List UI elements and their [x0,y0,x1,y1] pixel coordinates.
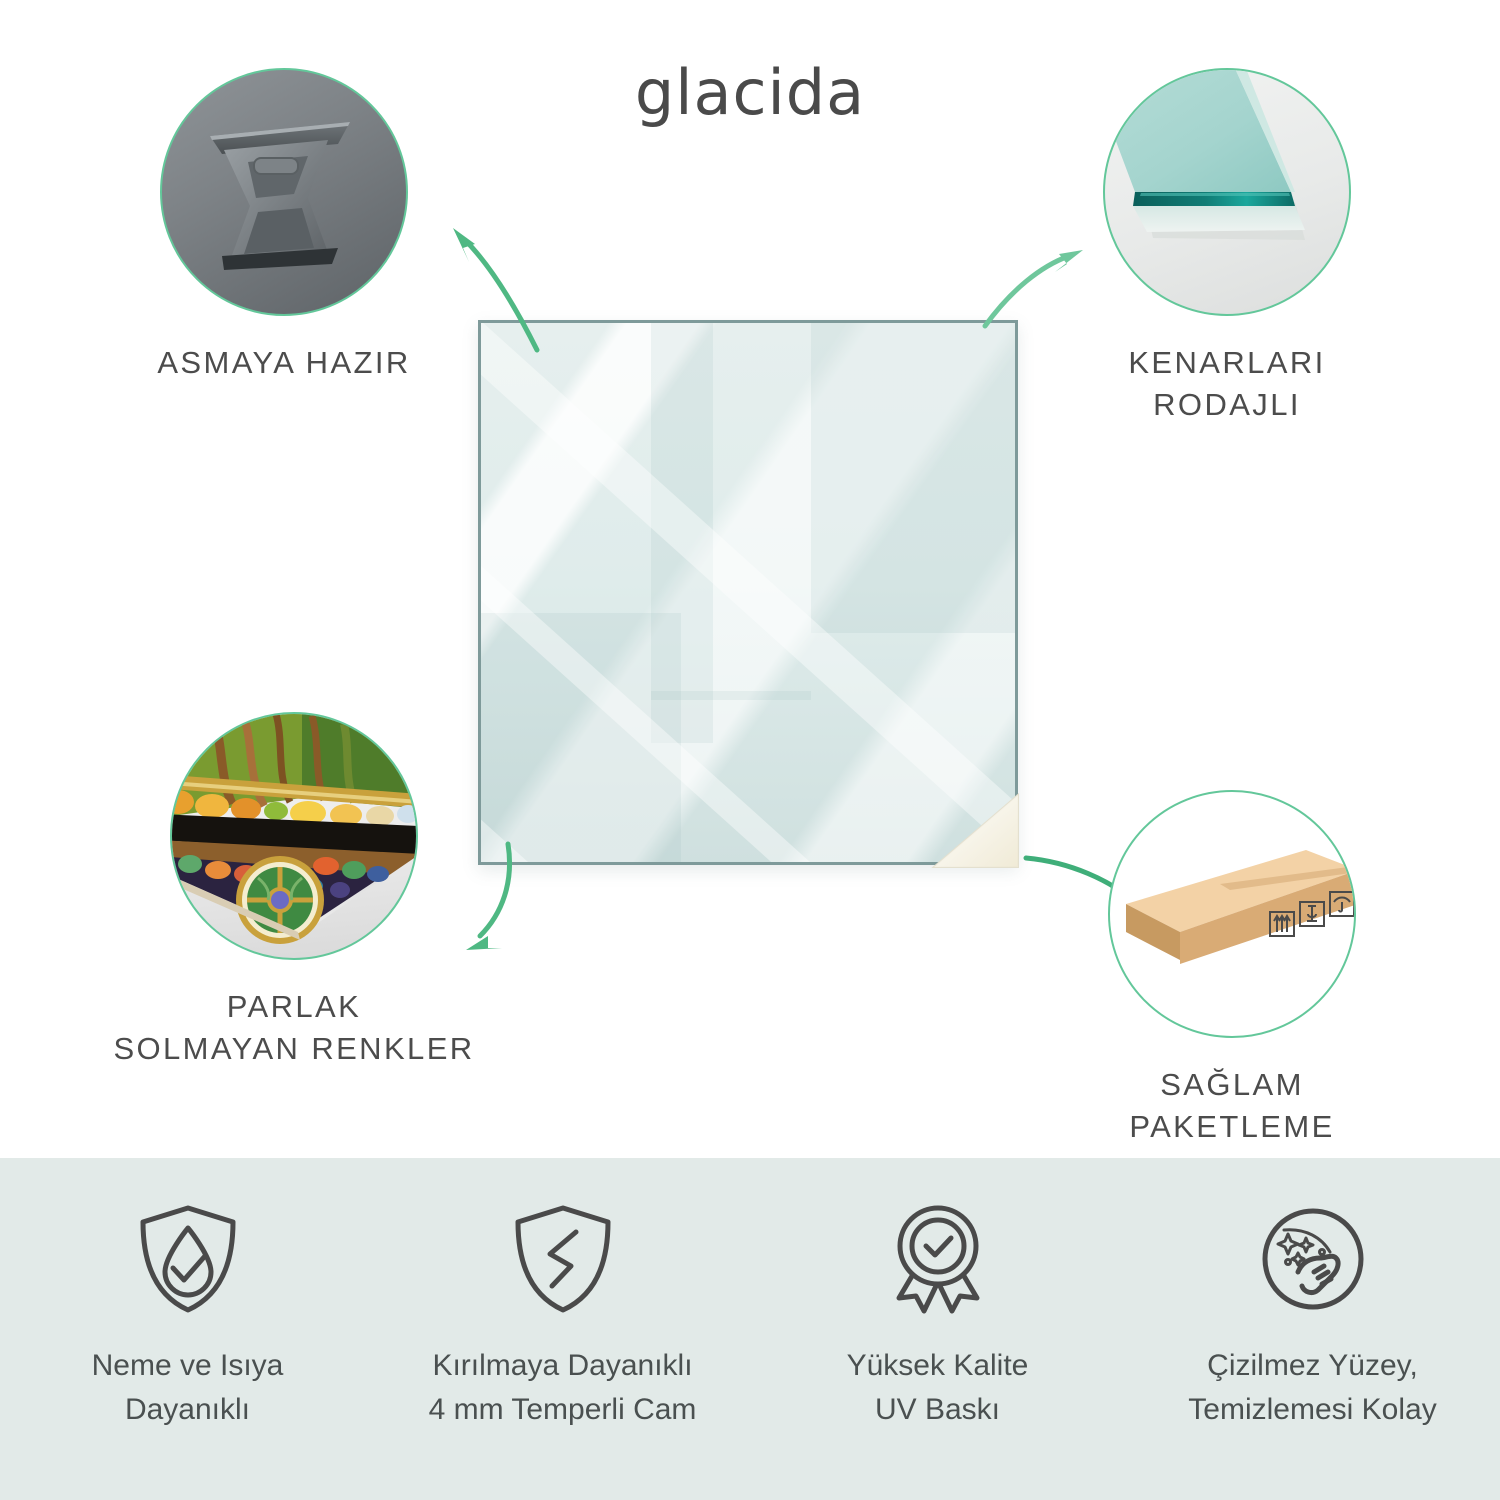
feature-label-kenarlari-rodajli: KENARLARI RODAJLI [1037,342,1417,426]
glass-reflection-block-left [478,613,681,865]
strip-text-kalite: Yüksek Kalite UV Baskı [847,1344,1029,1431]
feature-asmaya-hazir[interactable]: ASMAYA HAZIR [160,68,474,384]
feature-image-stained-glass-mosaic [170,712,418,960]
sparkle-wiping-hand-circle-icon [1254,1200,1372,1318]
wall-mount-bracket-icon [162,70,408,316]
glass-streak-1 [478,389,746,865]
strip-text-kirilma: Kırılmaya Dayanıklı 4 mm Temperli Cam [429,1344,697,1431]
bottom-feature-strip: Neme ve Isıya Dayanıklı Kırılmaya Dayanı… [0,1158,1500,1500]
stained-glass-mosaic-print-icon [172,714,418,960]
strip-text-cizilmez: Çizilmez Yüzey, Temizlemesi Kolay [1188,1344,1436,1431]
glass-reflection-mullion [651,323,713,743]
award-medal-check-icon [879,1200,997,1318]
feature-saglam-paketleme[interactable]: SAĞLAM PAKETLEME [1108,790,1422,1148]
strip-item-cizilmez[interactable]: Çizilmez Yüzey, Temizlemesi Kolay [1143,1200,1483,1431]
strip-item-nem-isi[interactable]: Neme ve Isıya Dayanıklı [18,1200,358,1431]
shield-water-drop-check-icon [129,1200,247,1318]
feature-kenarlari-rodajli[interactable]: KENARLARI RODAJLI [1103,68,1417,426]
glass-reflection-transom [651,691,811,700]
strip-item-kirilma[interactable]: Kırılmaya Dayanıklı 4 mm Temperli Cam [393,1200,733,1431]
cardboard-shipping-box-icon [1110,792,1356,1038]
glass-reflection-block-right [811,320,1018,633]
feature-label-asmaya-hazir: ASMAYA HAZIR [94,342,474,384]
feature-image-wall-mount-bracket [160,68,408,316]
product-glass-panel [478,320,1018,865]
strip-item-kalite[interactable]: Yüksek Kalite UV Baskı [768,1200,1108,1431]
strip-text-nem-isi: Neme ve Isıya Dayanıklı [92,1344,284,1431]
glass-streak-3 [478,320,1018,865]
glass-streak-2 [478,359,994,865]
feature-label-parlak-solmayan-renkler: PARLAK SOLMAYAN RENKLER [104,986,484,1070]
feature-label-saglam-paketleme: SAĞLAM PAKETLEME [1042,1064,1422,1148]
shield-bolt-icon [504,1200,622,1318]
polished-glass-edge-icon [1105,70,1351,316]
feature-parlak-solmayan-renkler[interactable]: PARLAK SOLMAYAN RENKLER [170,712,484,1070]
feature-image-polished-glass-edge [1103,68,1351,316]
feature-image-cardboard-package [1108,790,1356,1038]
